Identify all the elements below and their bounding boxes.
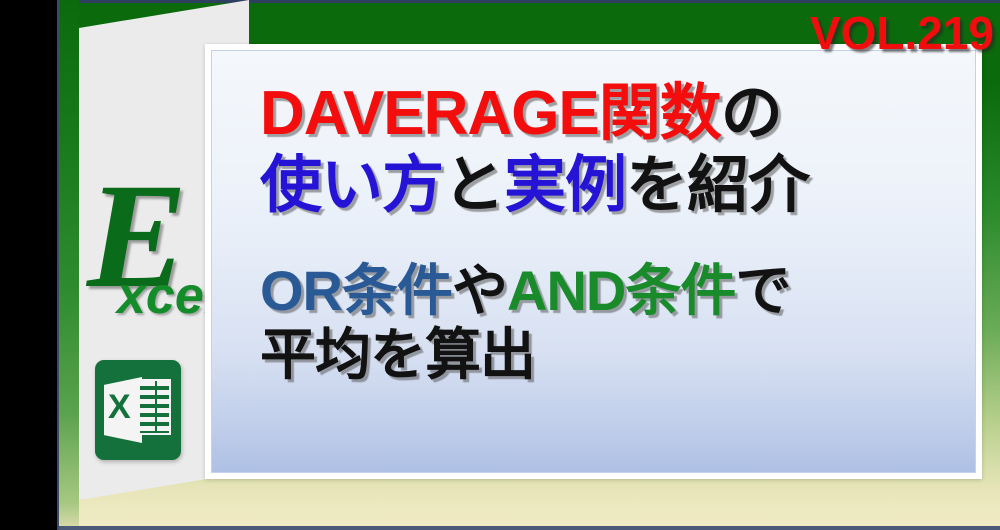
headline-line-1: DAVERAGE関数の xyxy=(260,83,972,145)
headline-line1-seg1: DAVERAGE関数 xyxy=(260,79,721,148)
slide-background: E xcel X DAVERAGE関数の 使い方と実例を紹介 xyxy=(57,0,1000,530)
headline-line3-seg3: AND条件 xyxy=(507,259,735,322)
headline-line2-seg4: を紹介 xyxy=(626,151,809,220)
headline-line-4: 平均を算出 xyxy=(260,327,972,383)
content-frame: DAVERAGE関数の 使い方と実例を紹介 OR条件やAND条件で 平均を算出 xyxy=(205,44,982,479)
excel-icon-spreadsheet-grid xyxy=(138,379,171,435)
headline-line3-seg1: OR条件 xyxy=(260,259,452,322)
excel-app-icon: X xyxy=(95,360,181,460)
excel-icon-letter-x: X xyxy=(108,390,131,424)
headline-line4-seg1: 平均を算出 xyxy=(260,323,535,386)
slide-bottom-rule xyxy=(59,526,1000,530)
excel-icon-grid-divider xyxy=(155,381,157,433)
headline-line-2: 使い方と実例を紹介 xyxy=(260,155,972,217)
headline-line1-seg2: の xyxy=(721,79,782,148)
thumbnail-canvas: E xcel X DAVERAGE関数の 使い方と実例を紹介 xyxy=(0,0,1000,530)
headline-line2-seg2: と xyxy=(443,151,504,220)
headline-spacer xyxy=(260,227,972,263)
slide-top-rule xyxy=(59,0,1000,3)
content-box: DAVERAGE関数の 使い方と実例を紹介 OR条件やAND条件で 平均を算出 xyxy=(211,50,976,473)
headline-line2-seg3: 実例 xyxy=(504,151,626,220)
volume-badge: VOL.219 xyxy=(810,10,994,56)
headline-block: DAVERAGE関数の 使い方と実例を紹介 OR条件やAND条件で 平均を算出 xyxy=(260,83,972,383)
headline-line-3: OR条件やAND条件で xyxy=(260,263,972,319)
headline-line3-seg4: で xyxy=(735,259,790,322)
headline-line2-seg1: 使い方 xyxy=(260,151,443,220)
green-spine-bar xyxy=(59,0,79,530)
headline-line3-seg2: や xyxy=(452,259,507,322)
